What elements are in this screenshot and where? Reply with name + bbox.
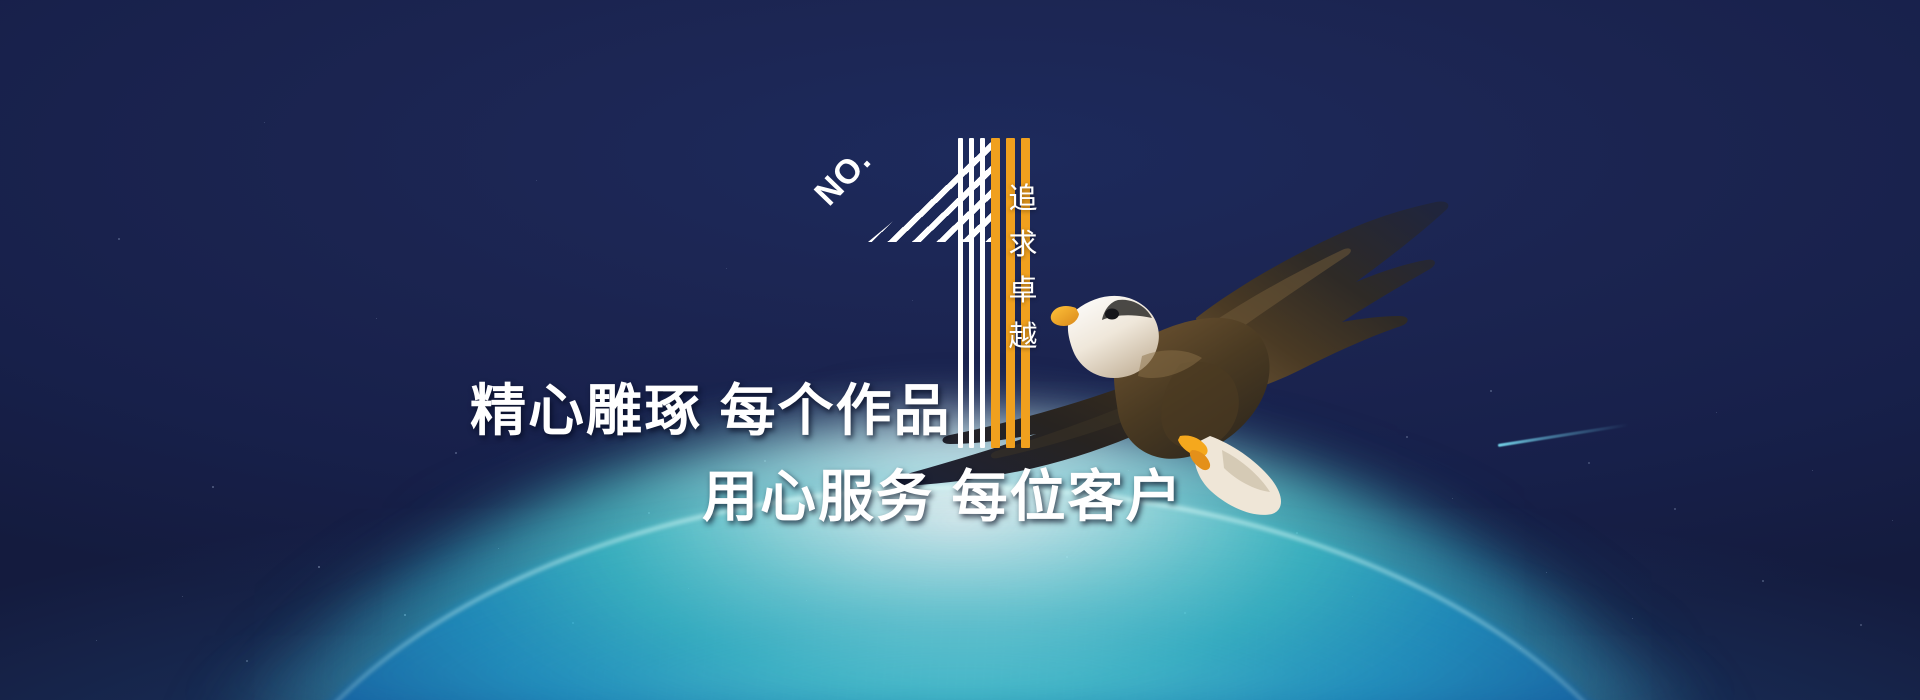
vertical-slogan-char-3: 卓 (1000, 268, 1046, 314)
vertical-slogan-char-1: 追 (1000, 176, 1046, 222)
star-dot (1242, 352, 1243, 353)
star-dot (1490, 390, 1492, 392)
star-dot (264, 122, 265, 123)
star-dot (118, 238, 120, 240)
headline-group: 精心雕琢 每个作品 用心服务 每位客户 (0, 374, 1160, 534)
star-dot (376, 318, 377, 319)
vertical-slogan: 追求卓越 (1000, 176, 1046, 360)
headline-line-2: 用心服务 每位客户 (0, 460, 1160, 534)
star-dot (536, 180, 537, 181)
vertical-slogan-char-2: 求 (1000, 222, 1046, 268)
headline-line-1: 精心雕琢 每个作品 (0, 374, 1160, 448)
vertical-slogan-char-4: 越 (1000, 314, 1046, 360)
hero-banner: NO. 追求卓越 精心雕琢 每个作品 用心服务 每位客户 (0, 0, 1920, 700)
star-dot (726, 268, 727, 269)
